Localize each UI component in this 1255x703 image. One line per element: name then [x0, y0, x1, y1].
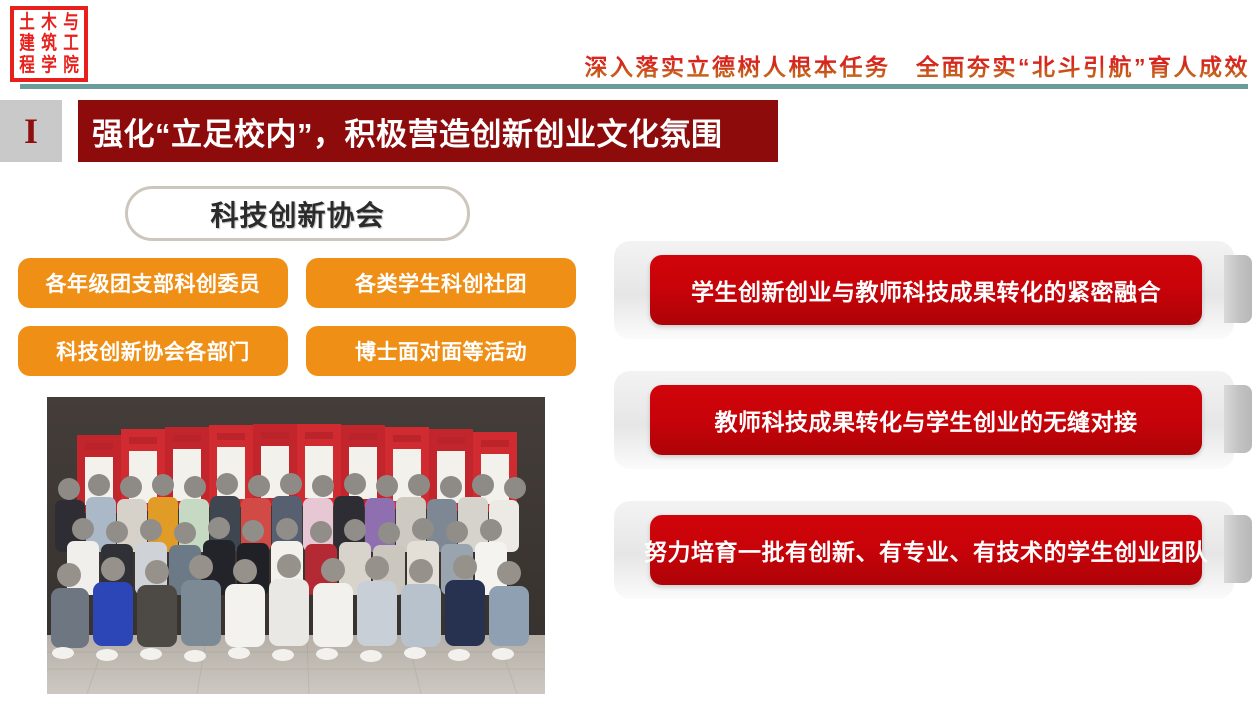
seal-char: 学 [40, 55, 58, 76]
seal-char: 程 [18, 55, 36, 76]
association-label: 科技创新协会 [210, 194, 384, 234]
seal-char: 建 [18, 33, 36, 54]
school-seal-icon: 土 木 与 建 筑 工 程 学 院 [10, 6, 88, 82]
orange-box-label: 各类学生科创社团 [355, 268, 527, 298]
callout-tab [1224, 515, 1252, 583]
section-number-badge: I [0, 100, 62, 162]
callout-label: 教师科技成果转化与学生创业的无缝对接 [715, 403, 1138, 437]
header-divider [20, 84, 1248, 89]
section-title-bar: 强化“立足校内”，积极营造创新创业文化氛围 [78, 100, 778, 162]
orange-box-label: 科技创新协会各部门 [56, 336, 250, 366]
callout-card: 学生创新创业与教师科技成果转化的紧密融合 [614, 241, 1234, 339]
seal-char: 与 [62, 12, 80, 33]
association-pill: 科技创新协会 [125, 186, 470, 241]
callout-card: 教师科技成果转化与学生创业的无缝对接 [614, 371, 1234, 469]
orange-box-label: 各年级团支部科创委员 [46, 268, 261, 298]
section-title-text: 强化“立足校内”，积极营造创新创业文化氛围 [92, 109, 723, 154]
seal-char: 院 [62, 55, 80, 76]
header-banner-text: 深入落实立德树人根本任务 全面夯实“北斗引航”育人成效 [455, 48, 1250, 82]
callout-body: 教师科技成果转化与学生创业的无缝对接 [650, 385, 1202, 455]
callout-body: 学生创新创业与教师科技成果转化的紧密融合 [650, 255, 1202, 325]
orange-box: 各年级团支部科创委员 [18, 258, 288, 308]
callout-tab [1224, 385, 1252, 453]
callout-label: 学生创新创业与教师科技成果转化的紧密融合 [691, 273, 1161, 307]
orange-box: 博士面对面等活动 [306, 326, 576, 376]
seal-char: 木 [40, 12, 58, 33]
callout-label: 努力培育一批有创新、有专业、有技术的学生创业团队 [644, 533, 1208, 567]
presentation-slide: 土 木 与 建 筑 工 程 学 院 深入落实立德树人根本任务 全面夯实“北斗引航… [0, 0, 1255, 703]
callout-card: 努力培育一批有创新、有专业、有技术的学生创业团队 [614, 501, 1234, 599]
orange-box: 各类学生科创社团 [306, 258, 576, 308]
orange-box: 科技创新协会各部门 [18, 326, 288, 376]
seal-char: 土 [18, 12, 36, 33]
seal-char: 工 [62, 33, 80, 54]
callout-body: 努力培育一批有创新、有专业、有技术的学生创业团队 [650, 515, 1202, 585]
seal-char: 筑 [40, 33, 58, 54]
group-photo [47, 397, 545, 694]
callout-tab [1224, 255, 1252, 323]
orange-box-label: 博士面对面等活动 [355, 336, 527, 366]
